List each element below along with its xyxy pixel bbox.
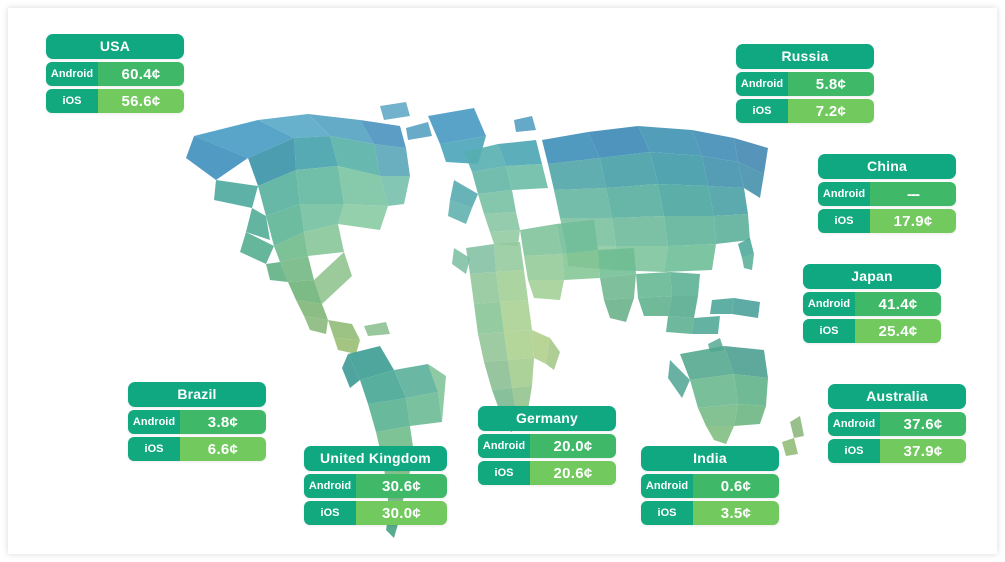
value-ios: 7.2¢ bbox=[788, 99, 874, 123]
row-ios-united-kingdom[interactable]: iOS 30.0¢ bbox=[304, 501, 447, 525]
region-russia-asia bbox=[542, 126, 768, 272]
country-card-japan[interactable]: Japan Android 41.4¢ iOS 25.4¢ bbox=[803, 264, 941, 343]
row-android-russia[interactable]: Android 5.8¢ bbox=[736, 72, 874, 96]
card-title-india: India bbox=[641, 446, 779, 471]
card-title-australia: Australia bbox=[828, 384, 966, 409]
region-islands bbox=[380, 102, 724, 352]
region-central-america bbox=[328, 320, 390, 354]
platform-label-ios: iOS bbox=[828, 439, 880, 463]
value-android: 30.6¢ bbox=[356, 474, 447, 498]
country-card-brazil[interactable]: Brazil Android 3.8¢ iOS 6.6¢ bbox=[128, 382, 266, 461]
value-ios: 17.9¢ bbox=[870, 209, 956, 233]
platform-label-ios: iOS bbox=[478, 461, 530, 485]
row-android-japan[interactable]: Android 41.4¢ bbox=[803, 292, 941, 316]
platform-label-ios: iOS bbox=[128, 437, 180, 461]
card-title-usa: USA bbox=[46, 34, 184, 59]
value-ios: 3.5¢ bbox=[693, 501, 779, 525]
platform-label-android: Android bbox=[803, 292, 855, 316]
value-android: 37.6¢ bbox=[880, 412, 966, 436]
platform-label-ios: iOS bbox=[46, 89, 98, 113]
row-android-brazil[interactable]: Android 3.8¢ bbox=[128, 410, 266, 434]
value-android: 0.6¢ bbox=[693, 474, 779, 498]
country-card-australia[interactable]: Australia Android 37.6¢ iOS 37.9¢ bbox=[828, 384, 966, 463]
platform-label-android: Android bbox=[46, 62, 98, 86]
row-ios-russia[interactable]: iOS 7.2¢ bbox=[736, 99, 874, 123]
row-android-china[interactable]: Android --- bbox=[818, 182, 956, 206]
platform-label-android: Android bbox=[128, 410, 180, 434]
value-ios: 56.6¢ bbox=[98, 89, 184, 113]
continent-australia bbox=[668, 346, 804, 462]
row-ios-usa[interactable]: iOS 56.6¢ bbox=[46, 89, 184, 113]
value-android: 3.8¢ bbox=[180, 410, 266, 434]
country-card-india[interactable]: India Android 0.6¢ iOS 3.5¢ bbox=[641, 446, 779, 525]
platform-label-android: Android bbox=[736, 72, 788, 96]
infographic-canvas: USA Android 60.4¢ iOS 56.6¢ Russia Andro… bbox=[0, 0, 1005, 562]
region-japan bbox=[738, 238, 754, 270]
continent-europe bbox=[448, 140, 548, 246]
country-card-usa[interactable]: USA Android 60.4¢ iOS 56.6¢ bbox=[46, 34, 184, 113]
platform-label-android: Android bbox=[828, 412, 880, 436]
value-ios: 30.0¢ bbox=[356, 501, 447, 525]
card-title-brazil: Brazil bbox=[128, 382, 266, 407]
row-ios-japan[interactable]: iOS 25.4¢ bbox=[803, 319, 941, 343]
platform-label-ios: iOS bbox=[736, 99, 788, 123]
card-title-united-kingdom: United Kingdom bbox=[304, 446, 447, 471]
row-ios-australia[interactable]: iOS 37.9¢ bbox=[828, 439, 966, 463]
value-android: 41.4¢ bbox=[855, 292, 941, 316]
platform-label-ios: iOS bbox=[818, 209, 870, 233]
row-ios-china[interactable]: iOS 17.9¢ bbox=[818, 209, 956, 233]
row-android-united-kingdom[interactable]: Android 30.6¢ bbox=[304, 474, 447, 498]
platform-label-android: Android bbox=[818, 182, 870, 206]
country-card-china[interactable]: China Android --- iOS 17.9¢ bbox=[818, 154, 956, 233]
region-middle-east-india bbox=[520, 220, 636, 322]
card-title-russia: Russia bbox=[736, 44, 874, 69]
row-android-australia[interactable]: Android 37.6¢ bbox=[828, 412, 966, 436]
region-southeast-asia bbox=[636, 272, 760, 334]
platform-label-android: Android bbox=[478, 434, 530, 458]
platform-label-ios: iOS bbox=[304, 501, 356, 525]
value-ios: 25.4¢ bbox=[855, 319, 941, 343]
value-ios: 37.9¢ bbox=[880, 439, 966, 463]
platform-label-ios: iOS bbox=[641, 501, 693, 525]
row-ios-germany[interactable]: iOS 20.6¢ bbox=[478, 461, 616, 485]
platform-label-android: Android bbox=[641, 474, 693, 498]
white-page: USA Android 60.4¢ iOS 56.6¢ Russia Andro… bbox=[8, 8, 997, 554]
value-android: 5.8¢ bbox=[788, 72, 874, 96]
value-ios: 20.6¢ bbox=[530, 461, 616, 485]
value-android: --- bbox=[870, 182, 956, 206]
card-title-germany: Germany bbox=[478, 406, 616, 431]
country-card-united-kingdom[interactable]: United Kingdom Android 30.6¢ iOS 30.0¢ bbox=[304, 446, 447, 525]
row-ios-india[interactable]: iOS 3.5¢ bbox=[641, 501, 779, 525]
card-title-japan: Japan bbox=[803, 264, 941, 289]
value-android: 60.4¢ bbox=[98, 62, 184, 86]
country-card-germany[interactable]: Germany Android 20.0¢ iOS 20.6¢ bbox=[478, 406, 616, 485]
country-card-russia[interactable]: Russia Android 5.8¢ iOS 7.2¢ bbox=[736, 44, 874, 123]
row-android-usa[interactable]: Android 60.4¢ bbox=[46, 62, 184, 86]
row-android-india[interactable]: Android 0.6¢ bbox=[641, 474, 779, 498]
value-android: 20.0¢ bbox=[530, 434, 616, 458]
row-android-germany[interactable]: Android 20.0¢ bbox=[478, 434, 616, 458]
continent-africa bbox=[452, 242, 560, 432]
platform-label-ios: iOS bbox=[803, 319, 855, 343]
value-ios: 6.6¢ bbox=[180, 437, 266, 461]
platform-label-android: Android bbox=[304, 474, 356, 498]
row-ios-brazil[interactable]: iOS 6.6¢ bbox=[128, 437, 266, 461]
card-title-china: China bbox=[818, 154, 956, 179]
continent-north-america bbox=[186, 108, 486, 334]
